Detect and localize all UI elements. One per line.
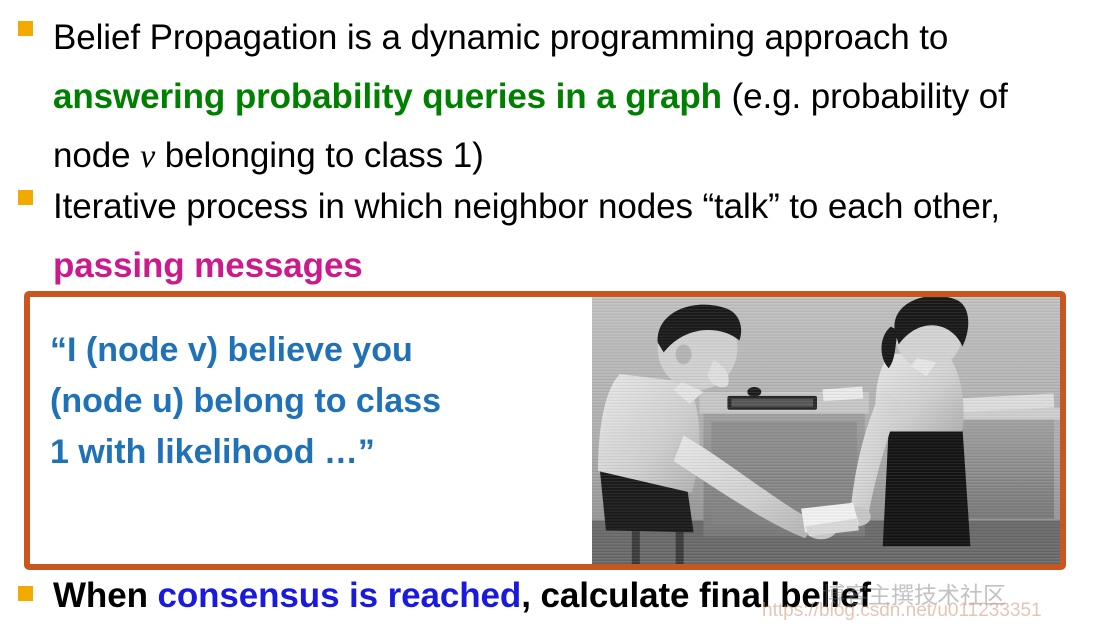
bullet-1-part-a: Belief Propagation is a dynamic programm… [53,18,948,57]
bullet-item-1: Belief Propagation is a dynamic programm… [18,8,1078,186]
bullet-1-math-variable: v [140,138,155,175]
quote-line-3: 1 with likelihood …” [50,427,580,478]
message-quote: “I (node v) believe you (node u) belong … [50,325,580,478]
bullet-1-text: Belief Propagation is a dynamic programm… [53,8,1078,186]
bullet-item-2: Iterative process in which neighbor node… [18,177,1078,295]
passing-note-photo [592,297,1060,564]
bullet-square-icon [18,586,33,601]
bullet-1-part-c: belonging to class 1) [155,136,484,175]
quote-line-2: (node u) belong to class [50,376,580,427]
bullet-3-text: When consensus is reached, calculate fin… [53,572,871,620]
quote-photo-frame: “I (node v) believe you (node u) belong … [24,291,1066,570]
slide-canvas: Belief Propagation is a dynamic programm… [0,0,1098,629]
bullet-item-3: When consensus is reached, calculate fin… [18,572,1078,620]
quote-text-pane: “I (node v) believe you (node u) belong … [30,297,592,564]
bullet-2-text: Iterative process in which neighbor node… [53,177,1078,295]
bullet-3-highlight-blue: consensus is reached [157,576,521,615]
bullet-square-icon [18,190,33,205]
bullet-1-highlight-green: answering probability queries in a graph [53,77,722,116]
bullet-3-part-b: , calculate final belief [521,576,871,615]
bullet-2-part-a: Iterative process in which neighbor node… [53,187,1000,226]
bullet-3-part-a: When [53,576,157,615]
quote-line-1: “I (node v) believe you [50,325,580,376]
bullet-square-icon [18,21,33,36]
bullet-2-highlight-magenta: passing messages [53,246,363,285]
passing-note-photo-image [592,297,1060,564]
